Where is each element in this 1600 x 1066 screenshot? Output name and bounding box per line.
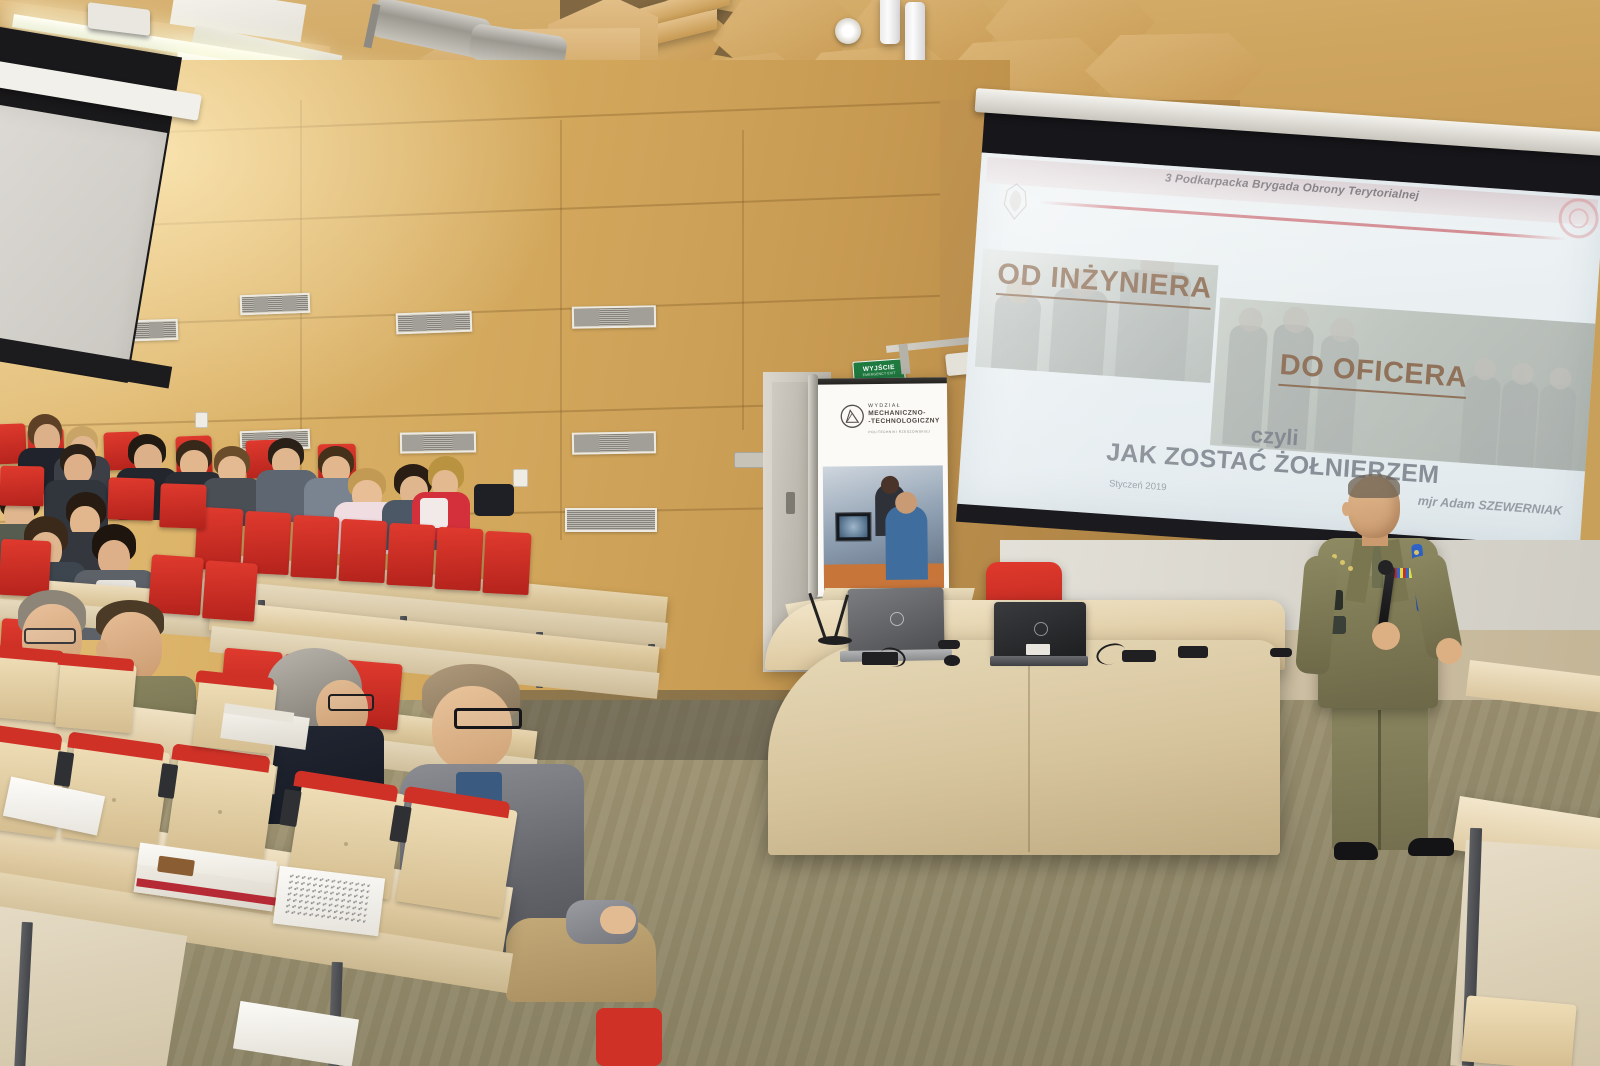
hand	[600, 906, 636, 934]
power-adapter	[1122, 650, 1156, 662]
door-handle[interactable]	[786, 492, 795, 514]
presenter-officer	[1296, 470, 1468, 882]
air-vent	[572, 431, 656, 454]
faculty-gear-logo-icon	[840, 403, 864, 429]
pendant-light	[880, 0, 900, 44]
cable-connector	[938, 640, 960, 649]
presentation-slide: 3 Podkarpacka Brygada Obrony Terytorialn…	[957, 153, 1600, 552]
auditorium-seat[interactable]	[596, 1008, 662, 1066]
air-vent	[572, 305, 656, 328]
shoe	[1334, 842, 1378, 860]
air-vent	[240, 293, 311, 315]
wall-outlet[interactable]	[195, 412, 208, 428]
exit-sign-sublabel: EMERGENCY EXIT	[863, 370, 896, 377]
lecture-hall-photo: WYJŚCIE EMERGENCY EXIT WYDZIAŁ MECHANICZ…	[0, 0, 1600, 1066]
laptop-left[interactable]	[847, 587, 944, 653]
main-projection-screen: 3 Podkarpacka Brygada Obrony Terytorialn…	[943, 92, 1600, 615]
air-vent	[396, 311, 473, 335]
auditorium-seat[interactable]	[0, 466, 44, 507]
banner-line-4: POLITECHNIKI RZESZOWSKIEJ	[868, 427, 940, 436]
eyeglasses	[454, 708, 522, 729]
auditorium-seat[interactable]	[434, 527, 483, 591]
lectern-body	[768, 640, 1280, 855]
eyeglasses	[24, 628, 76, 644]
auditorium-seat[interactable]	[202, 560, 258, 621]
auditorium-seat[interactable]	[386, 523, 435, 587]
auditorium-seat[interactable]	[0, 539, 51, 598]
auditorium-seat[interactable]	[482, 531, 531, 595]
dell-logo-icon	[1034, 622, 1048, 636]
banner-pole	[808, 374, 818, 598]
seat-back[interactable]	[1461, 995, 1576, 1066]
wall-outlet[interactable]	[513, 469, 528, 487]
roll-up-banner: WYDZIAŁ MECHANICZNO- -TECHNOLOGICZNY POL…	[812, 377, 949, 596]
dell-logo-icon	[890, 612, 904, 626]
auditorium-seat[interactable]	[107, 477, 154, 521]
eyeglasses	[328, 694, 374, 711]
hand	[1372, 622, 1400, 650]
shoe	[1408, 838, 1454, 856]
banner-photo	[823, 465, 944, 590]
laptop-label	[1026, 644, 1050, 655]
laptop-right-base[interactable]	[990, 656, 1088, 666]
slide-date: Styczeń 2019	[1109, 478, 1167, 493]
computer-mouse[interactable]	[944, 655, 960, 666]
presentation-clicker[interactable]	[1270, 648, 1292, 657]
polish-eagle-crest-icon	[999, 180, 1032, 224]
auditorium-seat[interactable]	[290, 515, 339, 579]
pendant-light	[905, 2, 925, 68]
air-vent	[565, 508, 657, 532]
microphone-base	[818, 636, 852, 645]
cable-connector	[1178, 646, 1208, 658]
banner-line-3: -TECHNOLOGICZNY	[868, 417, 940, 426]
recessed-downlight	[835, 18, 861, 44]
auditorium-seat[interactable]	[159, 483, 207, 529]
auditorium-seat[interactable]	[338, 519, 387, 583]
air-vent	[400, 431, 476, 453]
hand	[1436, 638, 1462, 664]
banner-top-rail	[812, 377, 949, 384]
